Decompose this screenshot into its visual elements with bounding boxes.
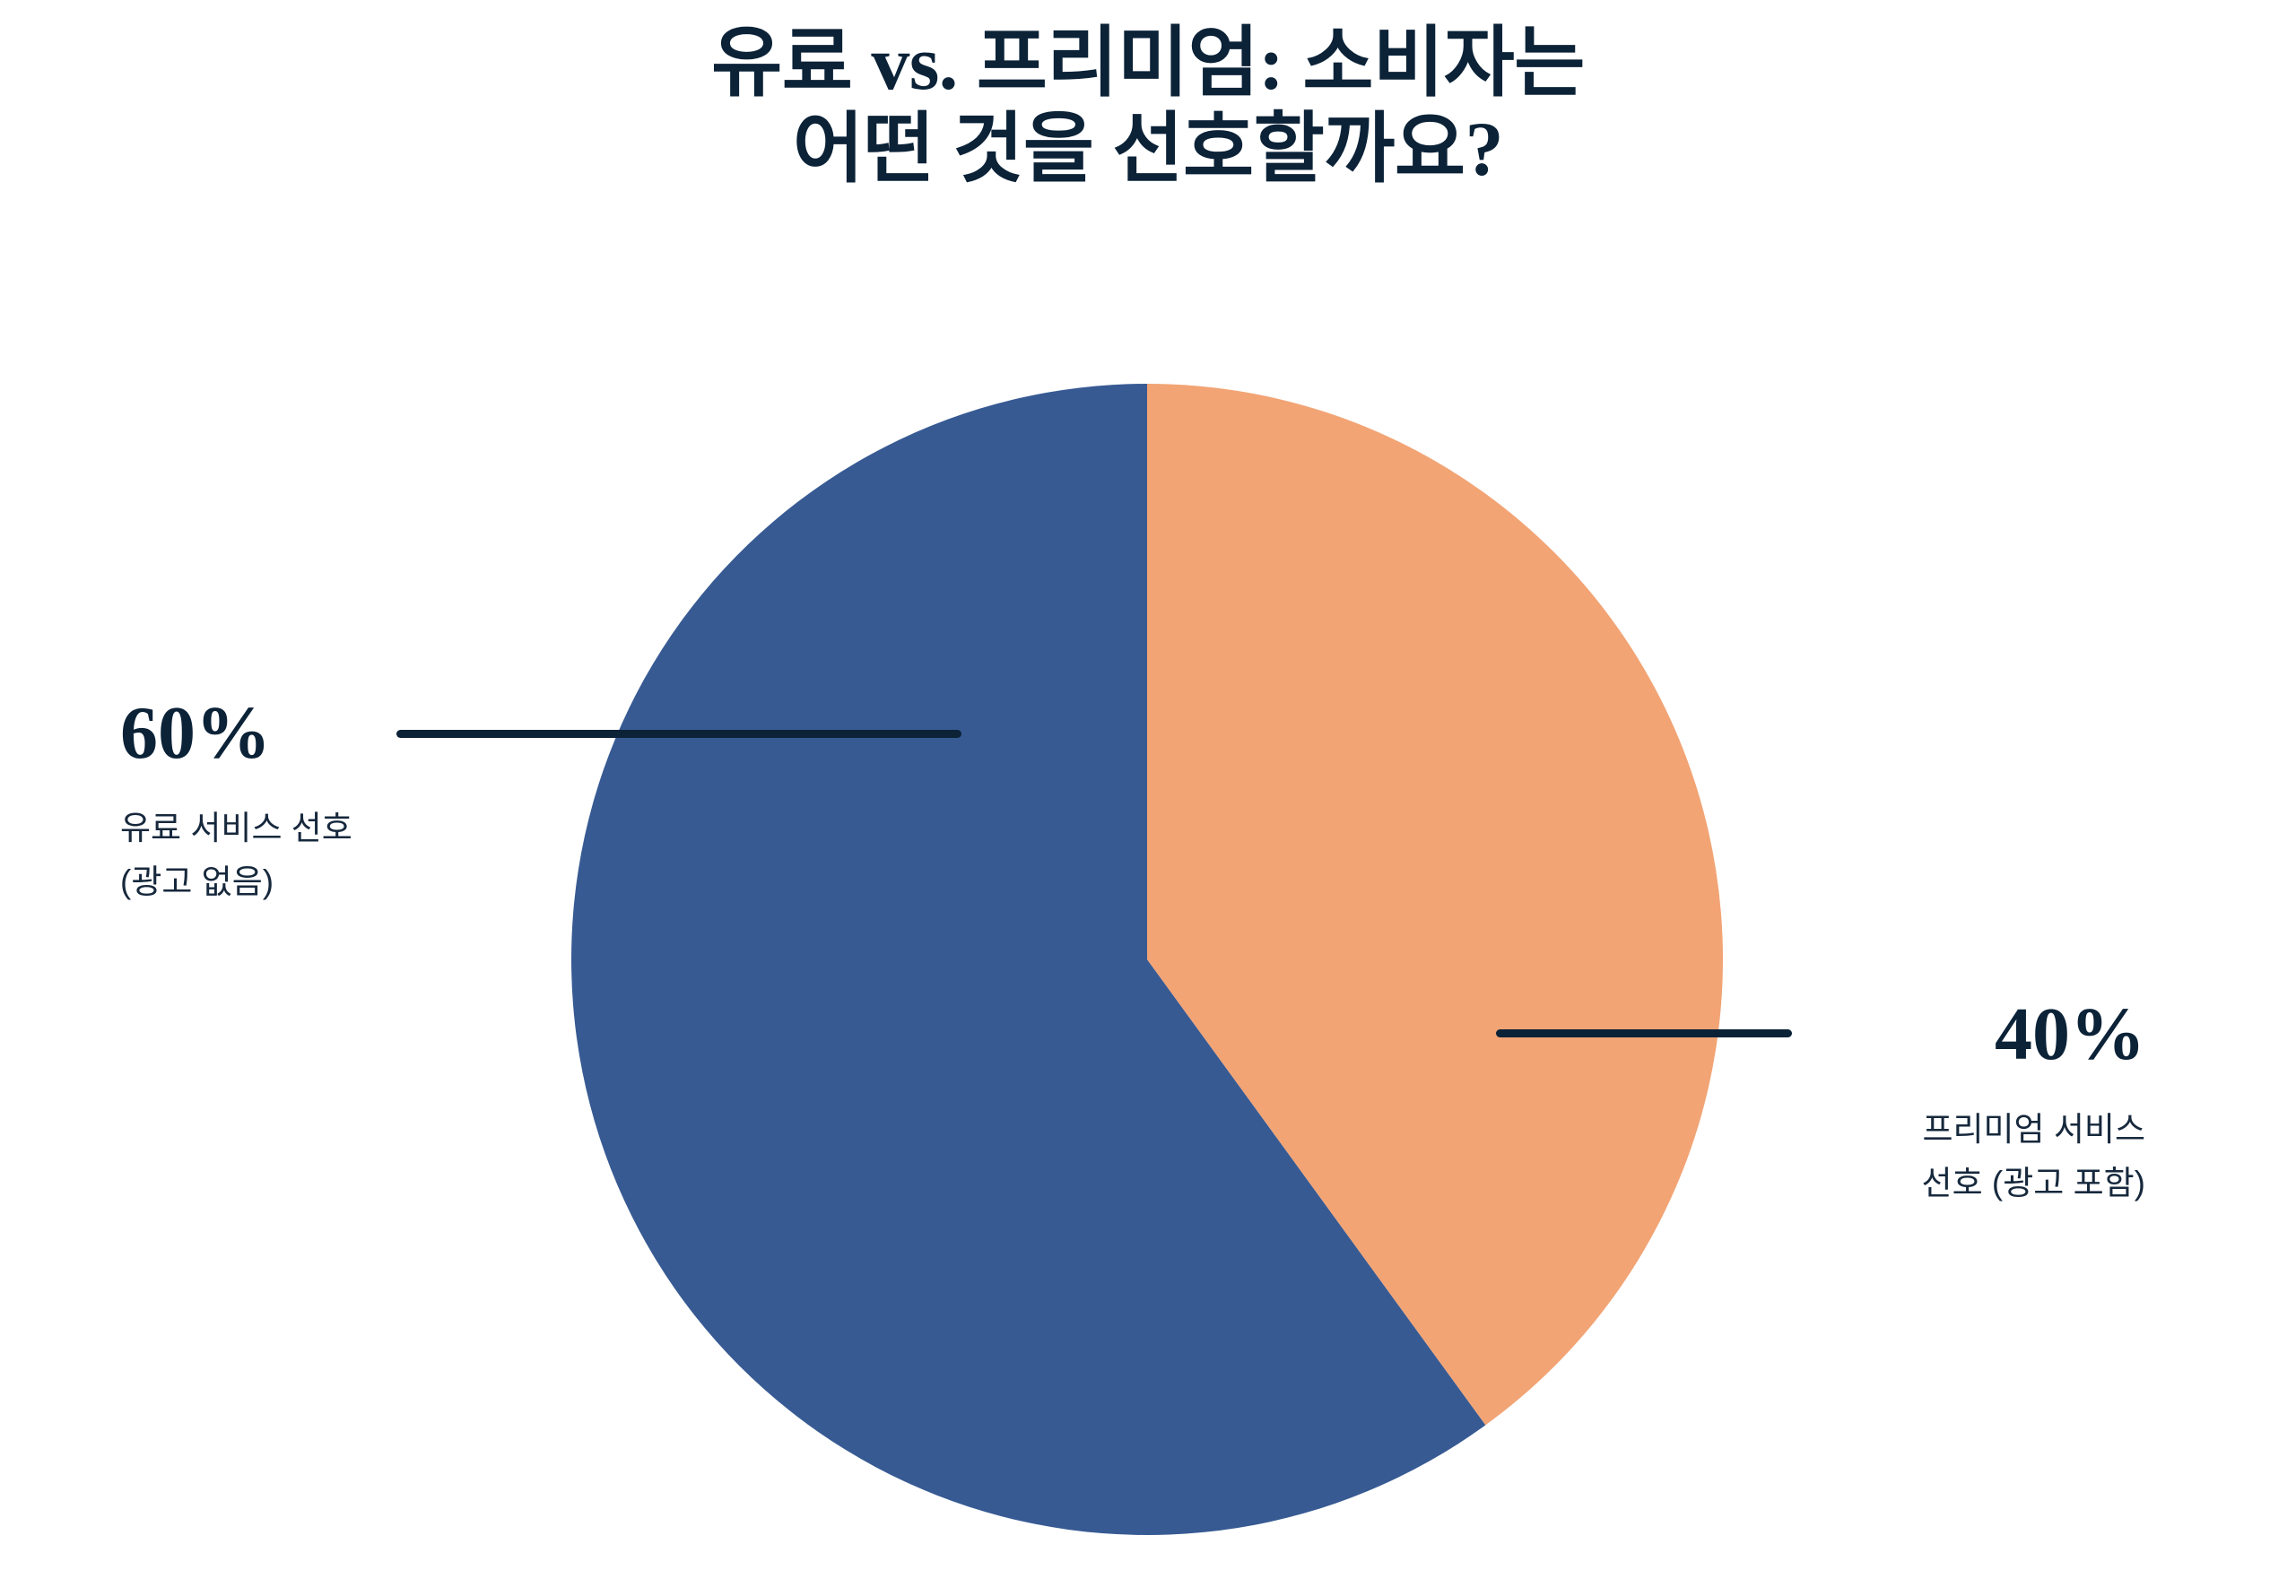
leader-line-right xyxy=(1496,1029,1792,1037)
callout-right-percent: 40% xyxy=(1776,997,2145,1072)
callout-left-percent: 60% xyxy=(120,696,497,771)
pie-chart-svg xyxy=(571,384,1723,1535)
callout-left-description: 유료 서비스 선호 (광고 없음) xyxy=(120,802,497,909)
page-title: 유료 vs. 프리미엄: 소비자는 어떤 것을 선호할까요? xyxy=(0,20,2296,193)
callout-right-description: 프리미엄 서비스 선호 (광고 포함) xyxy=(1776,1103,2145,1210)
callout-right: 40% 프리미엄 서비스 선호 (광고 포함) xyxy=(1776,997,2145,1210)
callout-left: 60% 유료 서비스 선호 (광고 없음) xyxy=(120,696,497,909)
pie-chart xyxy=(571,384,1723,1535)
